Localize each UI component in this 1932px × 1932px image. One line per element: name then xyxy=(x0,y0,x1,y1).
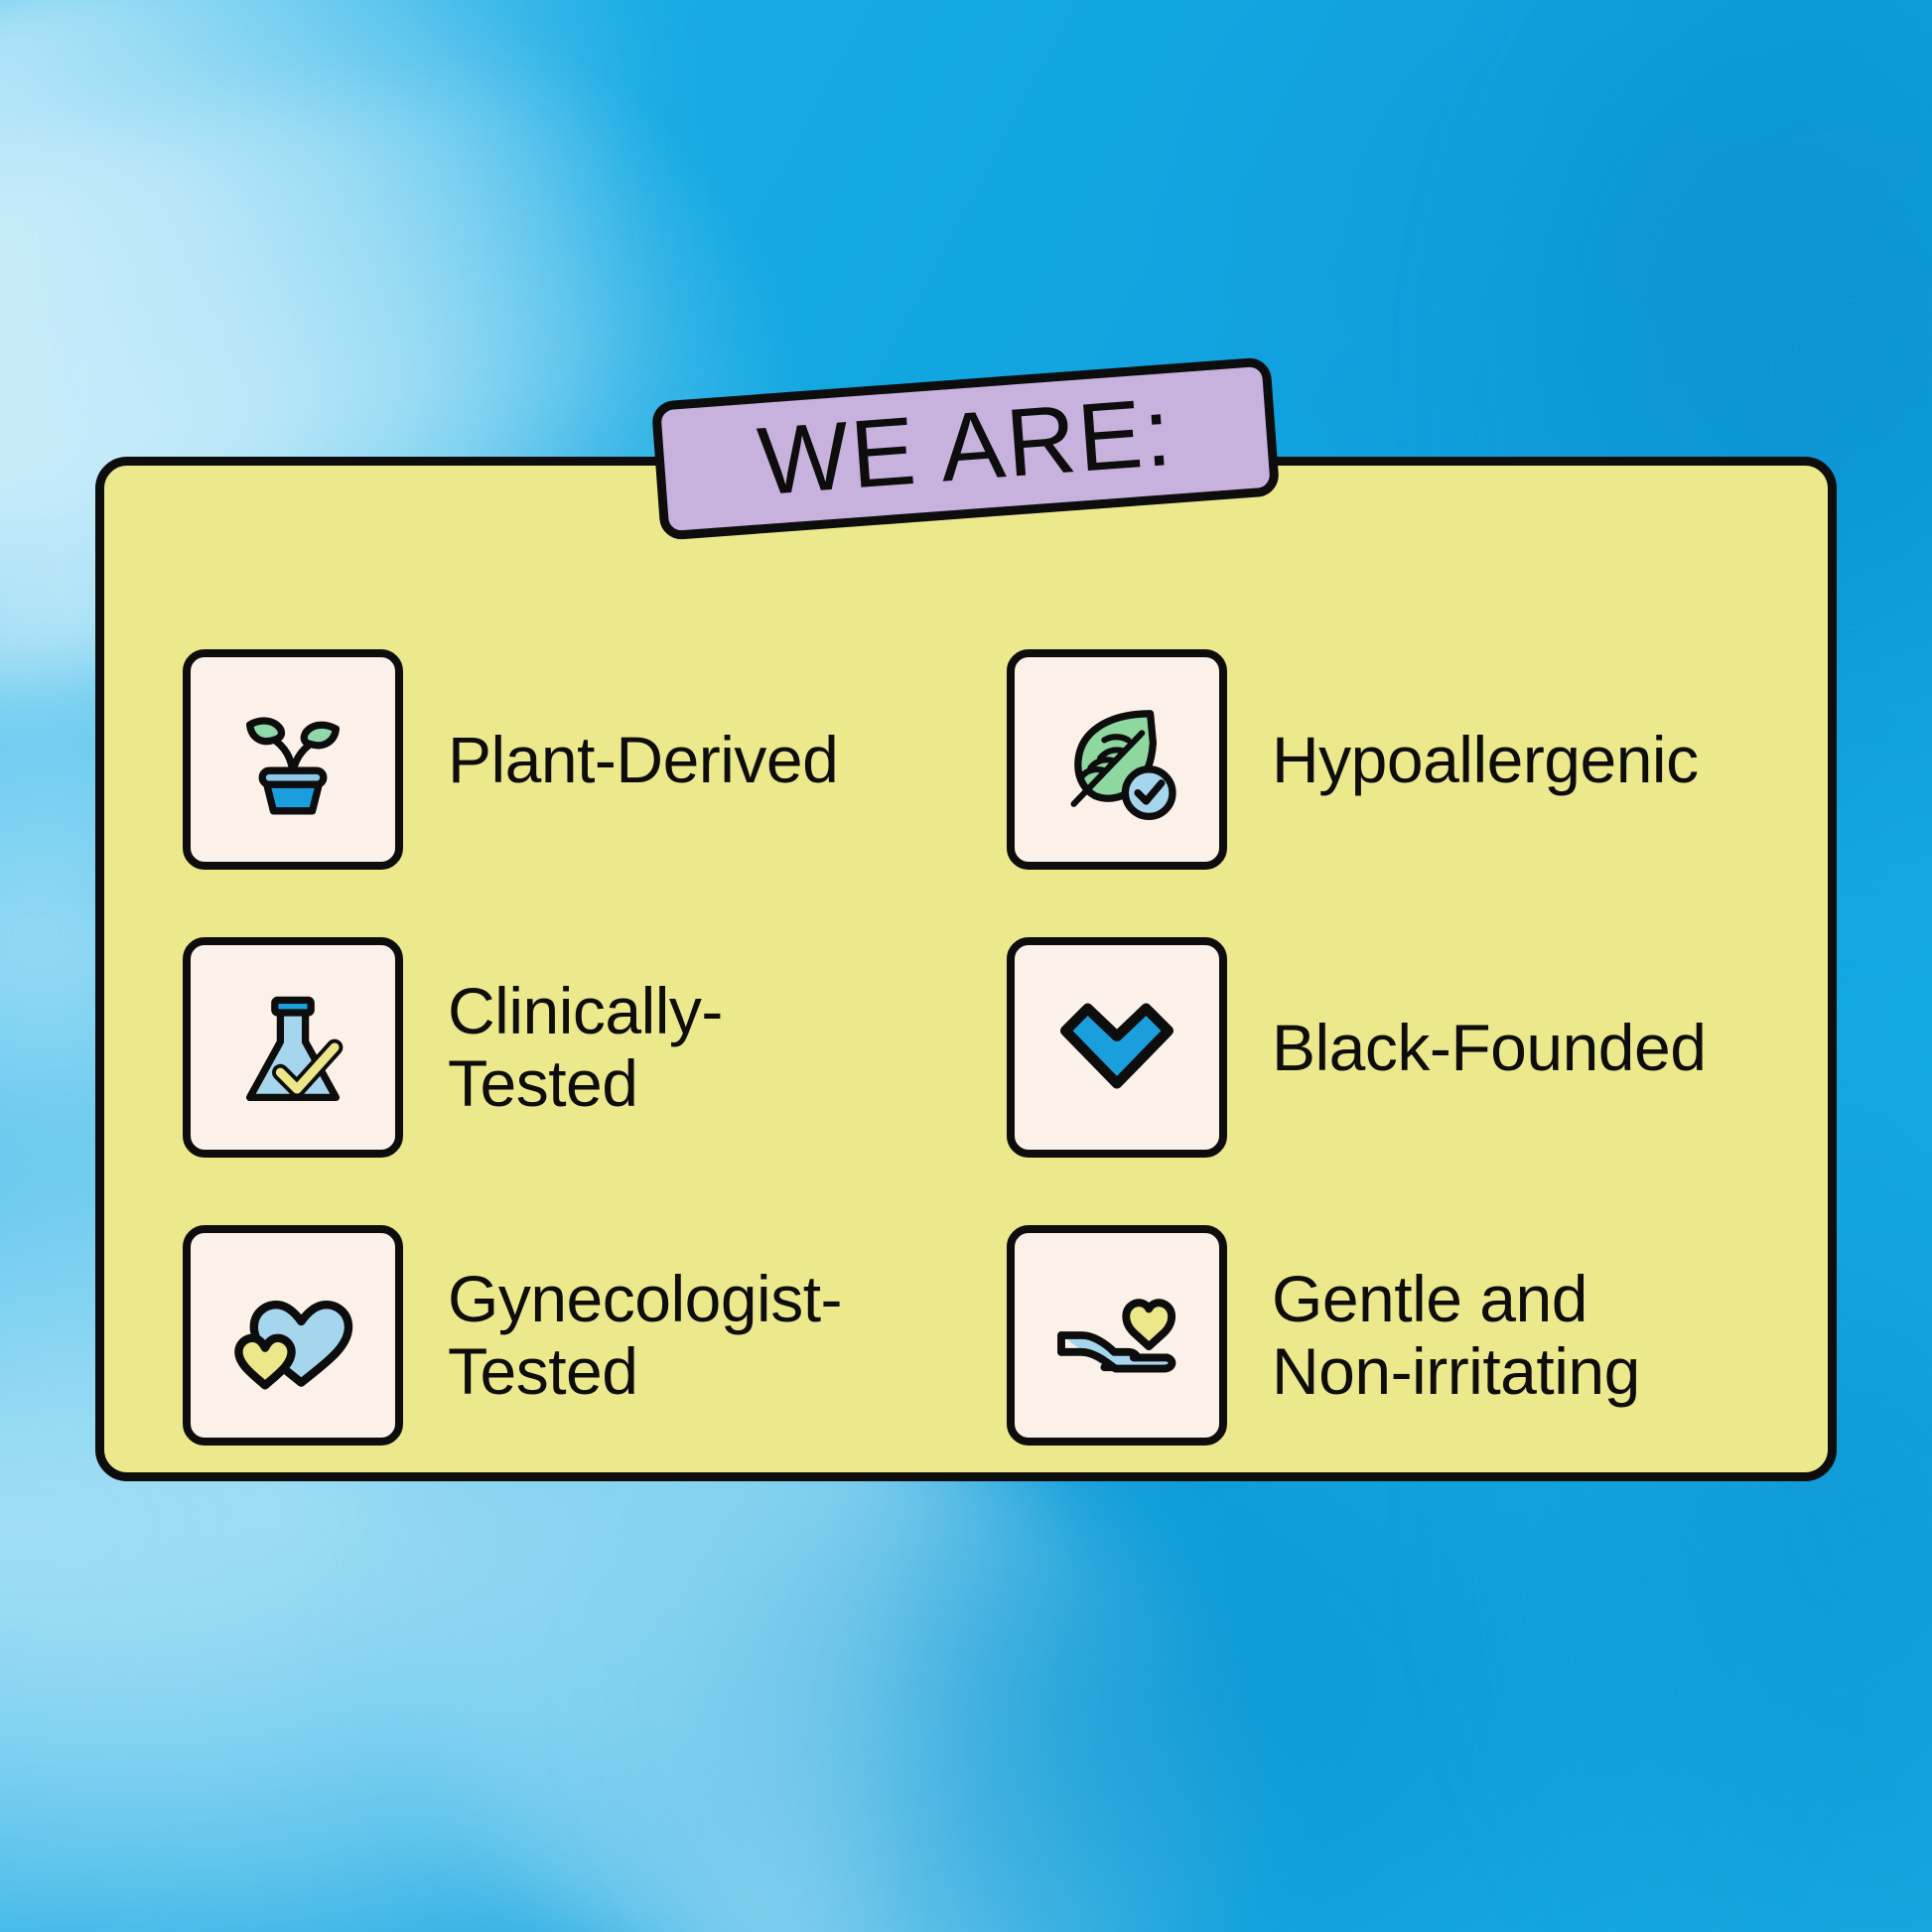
icon-tile-plant-derived xyxy=(183,649,403,870)
feature-label-gynecologist-tested: Gynecologist- Tested xyxy=(448,1263,842,1407)
flask-check-icon xyxy=(223,978,362,1117)
feature-label-plant-derived: Plant-Derived xyxy=(448,724,838,796)
angular-heart-icon xyxy=(1047,978,1186,1117)
potted-plant-icon xyxy=(223,690,362,829)
feature-gentle-non-irritating: Gentle and Non-irritating xyxy=(1007,1191,1771,1479)
hand-heart-icon xyxy=(1047,1266,1186,1405)
feature-plant-derived: Plant-Derived xyxy=(183,616,1007,903)
leaf-check-icon xyxy=(1047,690,1186,829)
feature-black-founded: Black-Founded xyxy=(1007,903,1771,1191)
feature-clinically-tested: Clinically- Tested xyxy=(183,903,1007,1191)
we-are-badge-label: WE ARE: xyxy=(755,382,1175,508)
icon-tile-black-founded xyxy=(1007,937,1227,1158)
icon-tile-gynecologist-tested xyxy=(183,1225,403,1446)
icon-tile-hypoallergenic xyxy=(1007,649,1227,870)
icon-tile-gentle-non-irritating xyxy=(1007,1225,1227,1446)
feature-label-black-founded: Black-Founded xyxy=(1272,1012,1706,1084)
feature-label-clinically-tested: Clinically- Tested xyxy=(448,975,723,1119)
feature-gynecologist-tested: Gynecologist- Tested xyxy=(183,1191,1007,1479)
features-grid: Plant-Derived Hypoallergenic xyxy=(183,616,1771,1479)
two-hearts-icon xyxy=(223,1266,362,1405)
feature-label-hypoallergenic: Hypoallergenic xyxy=(1272,724,1699,796)
icon-tile-clinically-tested xyxy=(183,937,403,1158)
feature-label-gentle-non-irritating: Gentle and Non-irritating xyxy=(1272,1263,1640,1407)
feature-hypoallergenic: Hypoallergenic xyxy=(1007,616,1771,903)
